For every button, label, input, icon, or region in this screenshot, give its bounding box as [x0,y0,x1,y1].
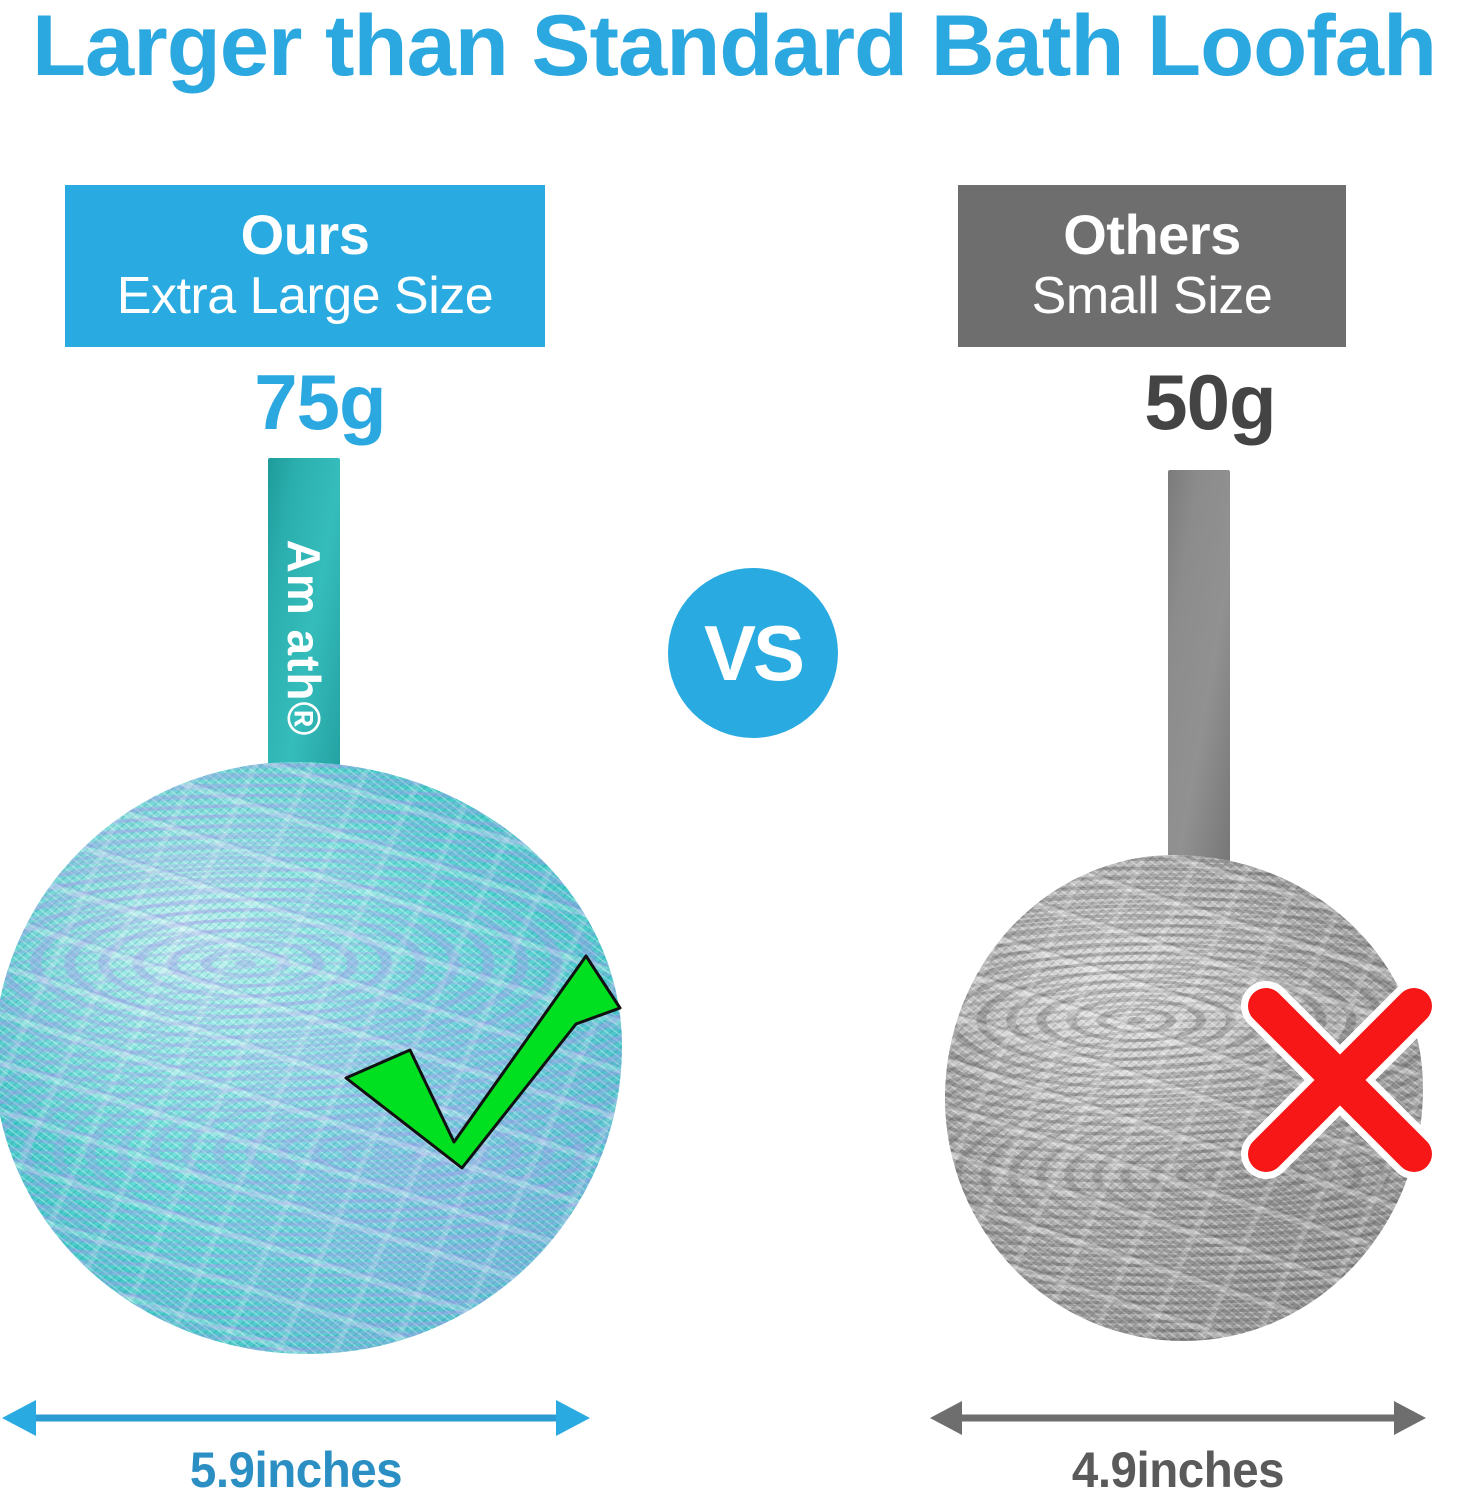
others-dimension-arrow-icon [928,1398,1428,1438]
product-comparison-infographic: Larger than Standard Bath Loofah Ours Ex… [0,0,1468,1500]
others-loofah-strap [1168,470,1230,870]
vs-badge: VS [668,568,838,738]
ours-badge: Ours Extra Large Size [65,185,545,347]
vs-badge-label: VS [704,614,802,692]
ours-badge-subtitle: Extra Large Size [117,265,493,327]
page-title: Larger than Standard Bath Loofah [0,0,1468,94]
others-weight-label: 50g [1100,360,1320,444]
ours-weight-label: 75g [210,360,430,444]
others-badge: Others Small Size [958,185,1346,347]
others-dimension-label: 4.9inches [941,1442,1416,1498]
ours-dimension-measure: 5.9inches [0,1398,592,1443]
cross-icon [1232,972,1448,1188]
others-badge-title: Others [1063,205,1241,265]
ours-dimension-arrow-icon [0,1398,592,1438]
others-dimension-measure: 4.9inches [928,1398,1428,1443]
check-icon [336,946,626,1176]
ours-dimension-label: 5.9inches [15,1442,577,1498]
others-badge-subtitle: Small Size [1032,265,1273,327]
ours-badge-title: Ours [241,205,370,265]
